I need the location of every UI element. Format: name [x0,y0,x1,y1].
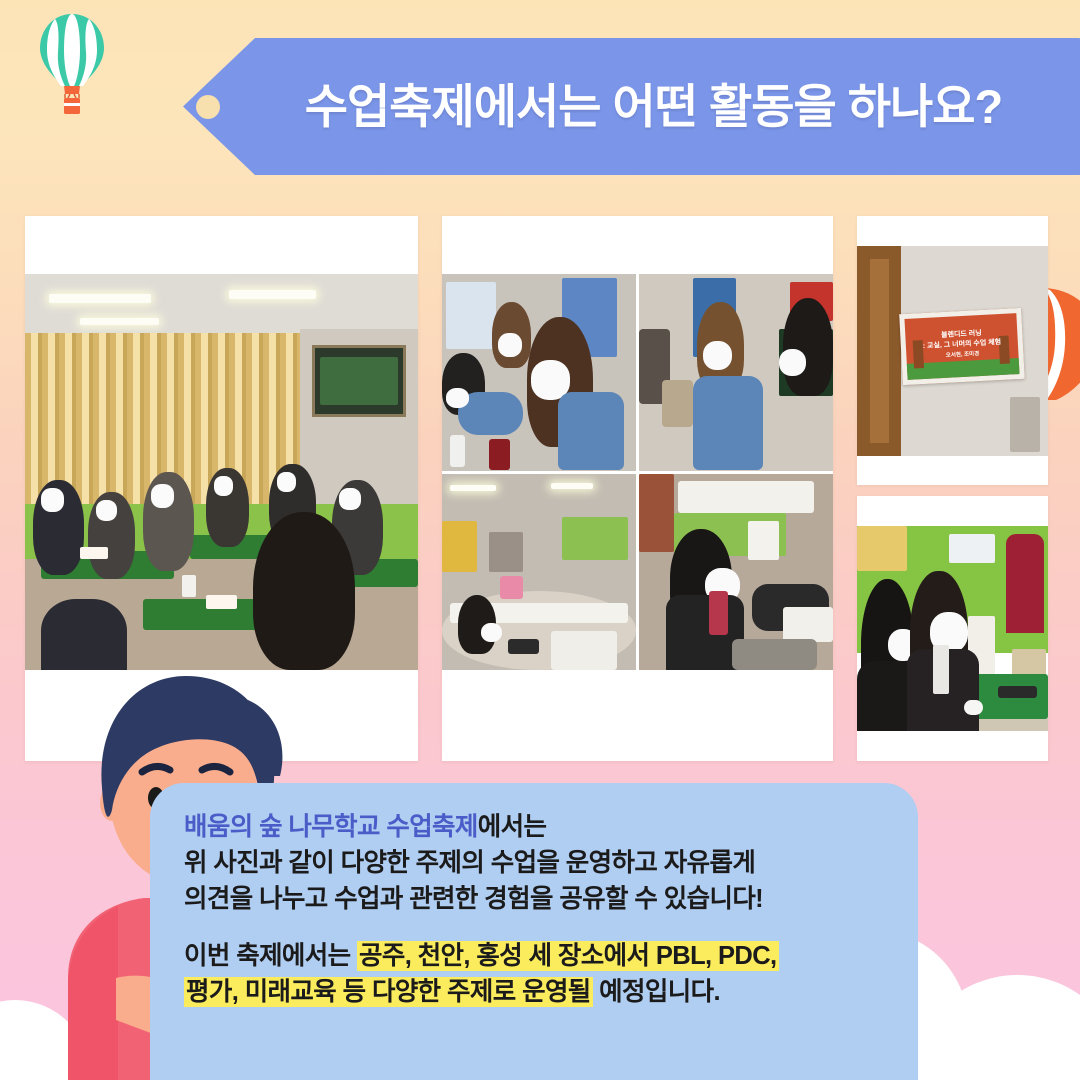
description-textbox: 배움의 숲 나무학교 수업축제에서는 위 사진과 같이 다양한 주제의 수업을 … [150,783,918,1080]
body-line-5-plain: 예정입니다. [593,978,720,1006]
body-line-1-accent: 배움의 숲 나무학교 수업축제 [184,813,478,841]
body-line-2: 위 사진과 같이 다양한 주제의 수업을 운영하고 자유롭게 [184,845,918,881]
hot-air-balloon-icon [34,12,110,120]
photo-card-students[interactable] [857,496,1048,761]
photo-card-classroom[interactable] [25,216,418,761]
body-line-5: 평가, 미래교육 등 다양한 주제로 운영될 예정입니다. [184,974,918,1010]
header-banner: 수업축제에서는 어떤 활동을 하나요? [183,38,1080,175]
blended-learning-poster-photo: 블렌디드 러닝 : 교실, 그 너머의 수업 체험 오서현, 조미경 [857,246,1048,456]
activity-collage-photo [442,274,833,670]
collage-photo-3 [442,474,636,671]
photo-card-poster[interactable]: 블렌디드 러닝 : 교실, 그 너머의 수업 체험 오서현, 조미경 [857,216,1048,485]
collage-photo-4 [639,474,833,671]
body-line-1-rest: 에서는 [478,813,547,841]
photo-card-collage[interactable] [442,216,833,761]
body-line-1: 배움의 숲 나무학교 수업축제에서는 [184,809,918,845]
banner-hole-decoration [196,95,220,119]
page-title: 수업축제에서는 어떤 활동을 하나요? [183,83,1080,130]
poster-canvas: 수업축제에서는 어떤 활동을 하나요? [0,0,1080,1080]
collage-photo-2 [639,274,833,471]
body-line-4: 이번 축제에서는 공주, 천안, 홍성 세 장소에서 PBL, PDC, [184,938,918,974]
body-spacer [184,918,918,938]
body-line-5-highlight: 평가, 미래교육 등 다양한 주제로 운영될 [184,977,593,1007]
classroom-lecture-photo [25,274,418,670]
body-line-4-highlight: 공주, 천안, 홍성 세 장소에서 PBL, PDC, [357,941,779,971]
body-line-3: 의견을 나누고 수업과 관련한 경험을 공유할 수 있습니다! [184,881,918,917]
collage-photo-1 [442,274,636,471]
two-students-discussion-photo [857,526,1048,731]
body-line-4-plain: 이번 축제에서는 [184,942,357,970]
wall-poster: 블렌디드 러닝 : 교실, 그 너머의 수업 체험 오서현, 조미경 [899,308,1025,386]
